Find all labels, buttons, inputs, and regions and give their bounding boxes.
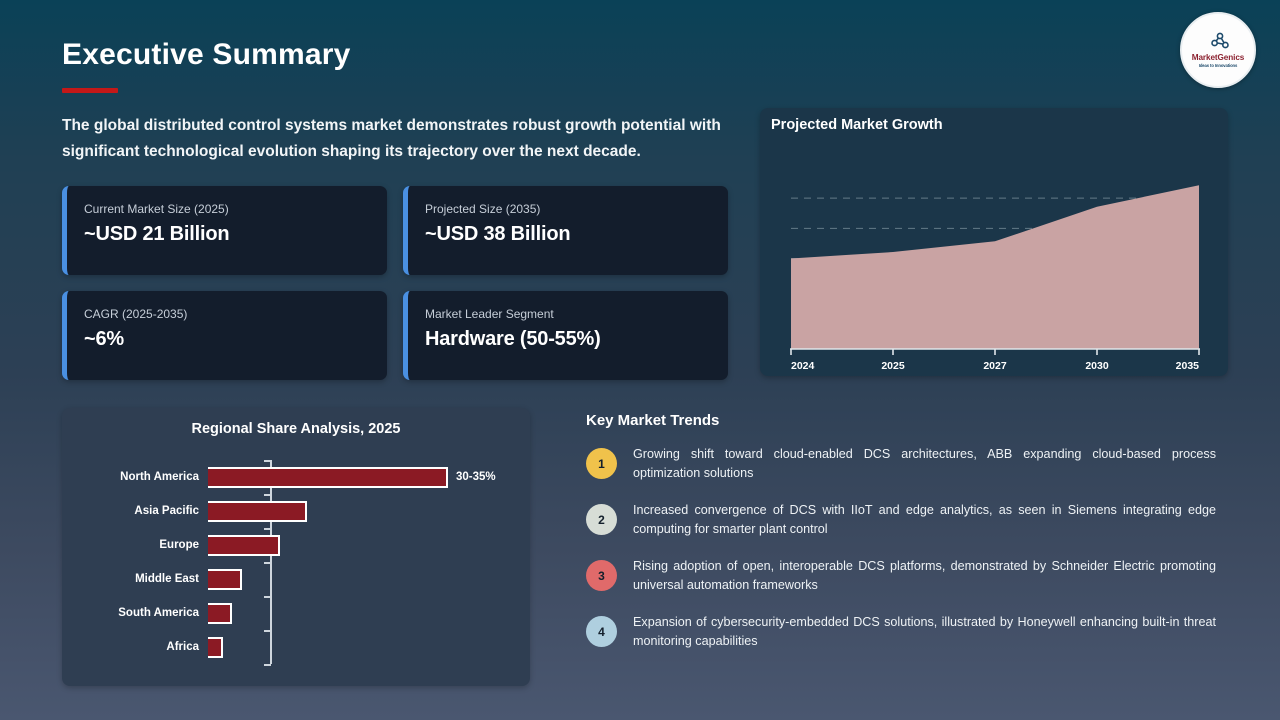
- bar-row[interactable]: Middle East: [62, 562, 530, 596]
- bar-axis-tick: [264, 630, 271, 632]
- bar-track: 30-35%: [208, 460, 530, 494]
- network-nodes-icon: [1205, 32, 1231, 52]
- bar-fill: [208, 501, 307, 522]
- bar-axis-tick: [264, 664, 271, 666]
- trend-item[interactable]: 1Growing shift toward cloud-enabled DCS …: [586, 445, 1226, 483]
- bar-row[interactable]: Asia Pacific: [62, 494, 530, 528]
- trend-item[interactable]: 3Rising adoption of open, interoperable …: [586, 557, 1226, 595]
- brand-logo: MarketGenics Ideas to Innovations: [1180, 12, 1256, 88]
- bar-axis-tick: [264, 494, 271, 496]
- trend-text: Expansion of cybersecurity-embedded DCS …: [633, 613, 1216, 651]
- bar-track: [208, 494, 530, 528]
- stat-card-label: CAGR (2025-2035): [84, 307, 369, 321]
- bar-category-label: Africa: [62, 641, 208, 653]
- bar-fill: [208, 603, 232, 624]
- stat-card-value: ~USD 38 Billion: [425, 223, 710, 246]
- x-axis-tick-label: 2030: [1085, 360, 1109, 372]
- bar-axis-tick: [264, 460, 271, 462]
- stat-card-projected-size[interactable]: Projected Size (2035) ~USD 38 Billion: [403, 186, 728, 275]
- bar-chart-title: Regional Share Analysis, 2025: [62, 421, 530, 437]
- stat-card-grid: Current Market Size (2025) ~USD 21 Billi…: [62, 186, 728, 396]
- bar-row[interactable]: South America: [62, 596, 530, 630]
- bar-axis-tick: [264, 596, 271, 598]
- stat-card-row: CAGR (2025-2035) ~6% Market Leader Segme…: [62, 291, 728, 380]
- bar-category-label: South America: [62, 607, 208, 619]
- bar-fill: [208, 467, 448, 488]
- logo-tagline: Ideas to Innovations: [1199, 63, 1238, 68]
- stat-card-label: Projected Size (2035): [425, 202, 710, 216]
- logo-name: MarketGenics: [1192, 53, 1245, 62]
- bar-category-label: Asia Pacific: [62, 505, 208, 517]
- trend-number-badge: 4: [586, 616, 617, 647]
- bar-category-label: Europe: [62, 539, 208, 551]
- growth-area-chart: 20242025202720302035: [760, 108, 1228, 376]
- trend-text: Increased convergence of DCS with IIoT a…: [633, 501, 1216, 539]
- bar-fill: [208, 637, 223, 658]
- stat-card-label: Current Market Size (2025): [84, 202, 369, 216]
- bar-category-label: North America: [62, 471, 208, 483]
- bar-track: [208, 630, 530, 664]
- trend-number-badge: 3: [586, 560, 617, 591]
- bar-fill: [208, 535, 280, 556]
- bar-fill: [208, 569, 242, 590]
- trend-text: Growing shift toward cloud-enabled DCS a…: [633, 445, 1216, 483]
- bar-axis-tick: [264, 562, 271, 564]
- stat-card-current-market-size[interactable]: Current Market Size (2025) ~USD 21 Billi…: [62, 186, 387, 275]
- x-axis-tick-label: 2024: [791, 360, 815, 372]
- area-series: [791, 185, 1199, 349]
- stat-card-value: ~USD 21 Billion: [84, 223, 369, 246]
- key-market-trends-section: Key Market Trends 1Growing shift toward …: [586, 412, 1226, 669]
- bar-value-label: 30-35%: [456, 471, 496, 483]
- stat-card-value: ~6%: [84, 328, 369, 351]
- regional-share-panel: Regional Share Analysis, 2025 North Amer…: [62, 408, 530, 686]
- bar-row[interactable]: Europe: [62, 528, 530, 562]
- trends-title: Key Market Trends: [586, 412, 1226, 429]
- stat-card-label: Market Leader Segment: [425, 307, 710, 321]
- trend-list: 1Growing shift toward cloud-enabled DCS …: [586, 445, 1226, 651]
- x-axis-tick-label: 2027: [983, 360, 1007, 372]
- bar-row[interactable]: North America30-35%: [62, 460, 530, 494]
- trend-text: Rising adoption of open, interoperable D…: [633, 557, 1216, 595]
- stat-card-cagr[interactable]: CAGR (2025-2035) ~6%: [62, 291, 387, 380]
- projected-market-growth-panel: Projected Market Growth 2024202520272030…: [760, 108, 1228, 376]
- bar-track: [208, 562, 530, 596]
- bar-axis-tick: [264, 528, 271, 530]
- x-axis-tick-label: 2035: [1176, 360, 1200, 372]
- trend-number-badge: 1: [586, 448, 617, 479]
- stat-card-row: Current Market Size (2025) ~USD 21 Billi…: [62, 186, 728, 275]
- trend-item[interactable]: 4Expansion of cybersecurity-embedded DCS…: [586, 613, 1226, 651]
- trend-item[interactable]: 2Increased convergence of DCS with IIoT …: [586, 501, 1226, 539]
- bar-track: [208, 596, 530, 630]
- stat-card-value: Hardware (50-55%): [425, 328, 710, 351]
- stat-card-market-leader-segment[interactable]: Market Leader Segment Hardware (50-55%): [403, 291, 728, 380]
- bar-chart-rows: North America30-35%Asia PacificEuropeMid…: [62, 460, 530, 664]
- page-subtitle: The global distributed control systems m…: [62, 113, 742, 165]
- x-axis-tick-label: 2025: [881, 360, 905, 372]
- slide-root: Executive Summary The global distributed…: [0, 0, 1280, 720]
- bar-track: [208, 528, 530, 562]
- bar-category-label: Middle East: [62, 573, 208, 585]
- trend-number-badge: 2: [586, 504, 617, 535]
- title-underline-rule: [62, 88, 118, 93]
- page-title: Executive Summary: [62, 38, 351, 72]
- bar-row[interactable]: Africa: [62, 630, 530, 664]
